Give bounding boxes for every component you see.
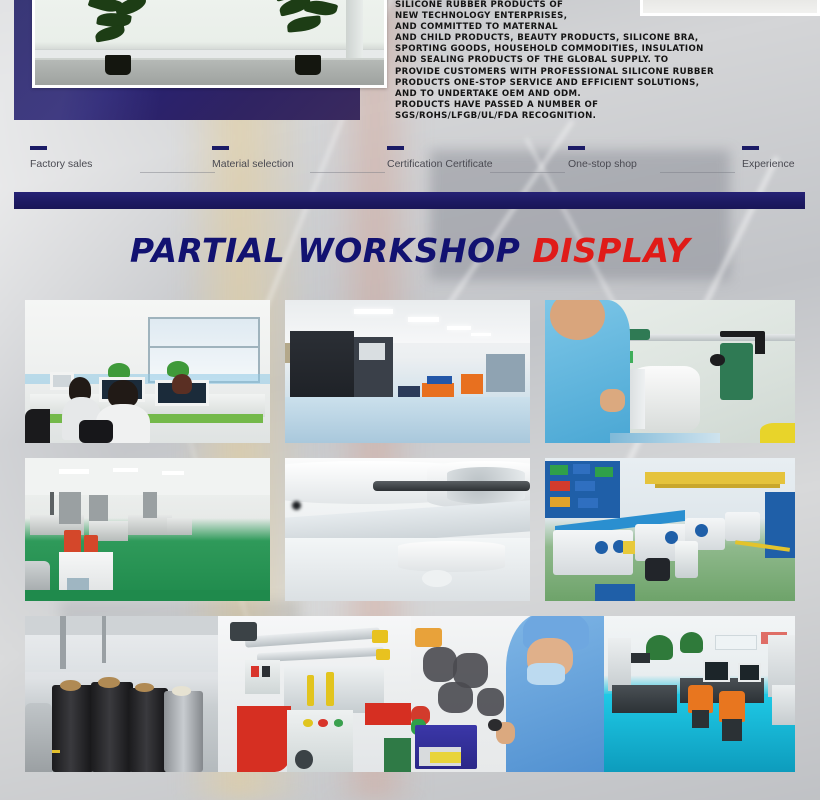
gallery-image-office[interactable] (25, 300, 270, 443)
feature-item-experience[interactable]: Experience (742, 146, 795, 170)
section-title-primary: PARTIAL WORKSHOP (130, 231, 521, 270)
feature-dash-icon (568, 146, 585, 150)
feature-connector (660, 172, 735, 173)
gallery-image-machining-corridor[interactable] (285, 300, 530, 443)
feature-connector (310, 172, 385, 173)
feature-item-one-stop-shop[interactable]: One-stop shop (568, 146, 637, 170)
feature-dash-icon (742, 146, 759, 150)
gallery-image-red-conveyor-machine[interactable] (218, 616, 411, 772)
lobby-photo-frame (32, 0, 387, 88)
lobby-photo (35, 0, 384, 85)
gallery-image-qc-inspection[interactable] (411, 616, 604, 772)
floor (35, 60, 384, 85)
feature-label: Factory sales (30, 158, 92, 170)
door (346, 0, 363, 58)
feature-item-certification-certificate[interactable]: Certification Certificate (387, 146, 493, 170)
gallery-image-extrusion-line[interactable] (25, 458, 270, 601)
potted-plant-left (83, 0, 153, 59)
feature-item-factory-sales[interactable]: Factory sales (30, 146, 92, 170)
section-title-accent: DISPLAY (532, 231, 690, 270)
gallery-image-measuring-lab[interactable] (604, 616, 795, 772)
potted-plant-right (275, 0, 341, 59)
feature-connector (140, 172, 215, 173)
feature-label: One-stop shop (568, 158, 637, 170)
gallery-image-calender-roller[interactable] (285, 458, 530, 601)
feature-item-material-selection[interactable]: Material selection (212, 146, 294, 170)
section-divider-bar (14, 192, 805, 209)
feature-connector (490, 172, 565, 173)
feature-dash-icon (30, 146, 47, 150)
gallery-row (25, 300, 795, 443)
feature-dash-icon (387, 146, 404, 150)
gallery-row (25, 458, 795, 601)
gallery-image-injection-molding[interactable] (545, 458, 795, 601)
feature-strip: Factory sales Material selection Certifi… (0, 146, 820, 186)
company-description: SILICONE RUBBER PRODUCTS OF NEW TECHNOLO… (395, 0, 815, 122)
gallery-image-silicone-roll-handling[interactable] (545, 300, 795, 443)
feature-label: Material selection (212, 158, 294, 170)
workshop-gallery (25, 300, 795, 772)
section-title: PARTIAL WORKSHOP DISPLAY (0, 231, 820, 270)
gallery-row (25, 616, 795, 772)
hero-banner: SILICONE RUBBER PRODUCTS OF NEW TECHNOLO… (0, 0, 820, 132)
feature-label: Certification Certificate (387, 158, 493, 170)
feature-dash-icon (212, 146, 229, 150)
gallery-image-rubber-rolls[interactable] (25, 616, 218, 772)
feature-label: Experience (742, 158, 795, 170)
